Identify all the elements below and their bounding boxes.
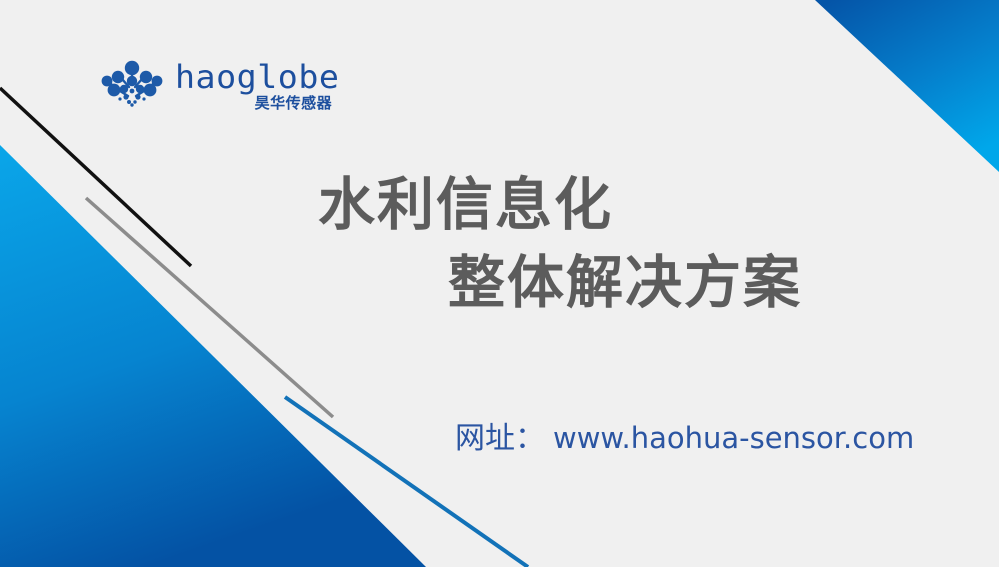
- brand-subtitle: 昊华传感器: [255, 95, 333, 112]
- brand-wordmark: haoglobe: [175, 61, 339, 94]
- haoglobe-molecule-logo-icon: [98, 60, 166, 107]
- website-line: 网址： www.haohua-sensor.com: [455, 419, 914, 458]
- slide-title: 水利信息化 整体解决方案: [0, 166, 999, 322]
- brand-text-block: haoglobe 昊华传感器: [175, 60, 333, 112]
- website-label: 网址：: [455, 420, 545, 458]
- slide-title-line-1: 水利信息化: [0, 166, 999, 244]
- website-url[interactable]: www.haohua-sensor.com: [553, 419, 914, 457]
- slide-title-line-2: 整体解决方案: [0, 244, 999, 322]
- brand-logo-lockup[interactable]: haoglobe 昊华传感器: [98, 60, 333, 112]
- title-slide: haoglobe 昊华传感器 水利信息化 整体解决方案 网址： www.haoh…: [0, 0, 999, 567]
